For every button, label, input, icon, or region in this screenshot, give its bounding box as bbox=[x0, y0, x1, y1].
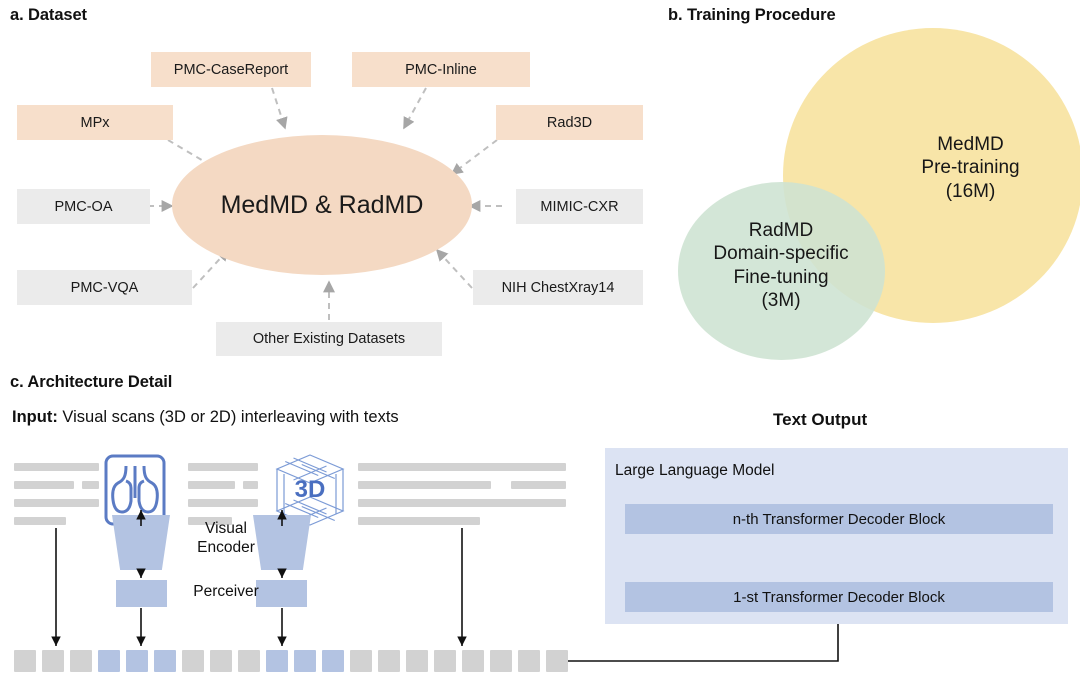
perceiver-label: Perceiver bbox=[176, 583, 276, 602]
dataset-box-label: PMC-Inline bbox=[405, 62, 477, 78]
dataset-box-label: Rad3D bbox=[547, 115, 592, 131]
dataset-box-other-existing-datasets[interactable]: Other Existing Datasets bbox=[216, 322, 442, 356]
text-token bbox=[350, 650, 372, 672]
dataset-box-label: PMC-VQA bbox=[71, 280, 139, 296]
llm-block-label: 1-st Transformer Decoder Block bbox=[733, 589, 945, 606]
visual-token bbox=[126, 650, 148, 672]
visual-token bbox=[322, 650, 344, 672]
input-caption: Input: Visual scans (3D or 2D) interleav… bbox=[12, 408, 399, 427]
llm-block-1-st[interactable]: 1-st Transformer Decoder Block bbox=[625, 582, 1053, 612]
text-bar bbox=[188, 499, 258, 507]
text-bar bbox=[358, 499, 566, 507]
venn-label-finetuning: RadMD Domain-specific Fine-tuning (3M) bbox=[681, 219, 881, 312]
text-token bbox=[434, 650, 456, 672]
panel-b-title: b. Training Procedure bbox=[668, 6, 836, 25]
text-bar bbox=[14, 481, 74, 489]
dataset-box-label: MIMIC-CXR bbox=[540, 199, 618, 215]
visual-token bbox=[98, 650, 120, 672]
dataset-box-label: PMC-OA bbox=[55, 199, 113, 215]
dataset-box-label: NIH ChestXray14 bbox=[502, 280, 615, 296]
input-caption-prefix: Input: bbox=[12, 408, 58, 426]
dataset-box-label: MPx bbox=[81, 115, 110, 131]
text-token bbox=[546, 650, 568, 672]
visual-token bbox=[266, 650, 288, 672]
dataset-box-pmc-oa[interactable]: PMC-OA bbox=[17, 189, 150, 224]
text-token bbox=[70, 650, 92, 672]
panel-c-title: c. Architecture Detail bbox=[10, 373, 172, 392]
input-caption-text: Visual scans (3D or 2D) interleaving wit… bbox=[58, 408, 399, 426]
text-token bbox=[182, 650, 204, 672]
dataset-box-pmc-casereport[interactable]: PMC-CaseReport bbox=[151, 52, 311, 87]
llm-title: Large Language Model bbox=[615, 462, 774, 480]
visual-encoder-label: Visual Encoder bbox=[178, 520, 274, 558]
text-bar bbox=[188, 481, 235, 489]
panel-architecture-detail: c. Architecture Detail Input: Visual sca… bbox=[0, 370, 1080, 691]
text-bar bbox=[188, 463, 258, 471]
text-bar bbox=[14, 517, 66, 525]
text-token bbox=[462, 650, 484, 672]
venn-label-pretraining: MedMD Pre-training (16M) bbox=[883, 133, 1058, 203]
text-bar bbox=[243, 481, 258, 489]
text-bar bbox=[511, 481, 566, 489]
text-bar bbox=[14, 463, 99, 471]
text-token bbox=[238, 650, 260, 672]
panel-dataset: a. Dataset MedMD & RadMD PMC-CaseReport … bbox=[0, 0, 660, 370]
text-token bbox=[210, 650, 232, 672]
dataset-box-mpx[interactable]: MPx bbox=[17, 105, 173, 140]
dataset-box-label: PMC-CaseReport bbox=[174, 62, 288, 78]
llm-block-n-th[interactable]: n-th Transformer Decoder Block bbox=[625, 504, 1053, 534]
text-token bbox=[14, 650, 36, 672]
dataset-center-label: MedMD & RadMD bbox=[221, 191, 424, 220]
visual-token bbox=[154, 650, 176, 672]
text-token bbox=[518, 650, 540, 672]
text-bar bbox=[358, 517, 480, 525]
text-token bbox=[378, 650, 400, 672]
panel-a-title: a. Dataset bbox=[10, 6, 87, 25]
text-bar bbox=[82, 481, 99, 489]
text-bar bbox=[14, 499, 99, 507]
text-token bbox=[490, 650, 512, 672]
visual-token bbox=[294, 650, 316, 672]
text-token bbox=[406, 650, 428, 672]
dataset-box-pmc-inline[interactable]: PMC-Inline bbox=[352, 52, 530, 87]
llm-block-label: n-th Transformer Decoder Block bbox=[733, 511, 946, 528]
dataset-center-ellipse: MedMD & RadMD bbox=[172, 135, 472, 275]
dataset-box-nih-chestxray14[interactable]: NIH ChestXray14 bbox=[473, 270, 643, 305]
dataset-box-pmc-vqa[interactable]: PMC-VQA bbox=[17, 270, 192, 305]
panel-training-procedure: b. Training Procedure MedMD Pre-training… bbox=[660, 0, 1080, 370]
text-token bbox=[42, 650, 64, 672]
dataset-box-mimic-cxr[interactable]: MIMIC-CXR bbox=[516, 189, 643, 224]
visual-encoder-trapezoid-1 bbox=[112, 515, 170, 570]
perceiver-block-1 bbox=[116, 580, 167, 607]
dataset-box-label: Other Existing Datasets bbox=[253, 331, 405, 347]
text-bar bbox=[358, 481, 491, 489]
text-output-label: Text Output bbox=[773, 410, 867, 430]
dataset-box-rad3d[interactable]: Rad3D bbox=[496, 105, 643, 140]
cube-3d-label: 3D bbox=[295, 476, 326, 503]
text-bar bbox=[358, 463, 566, 471]
